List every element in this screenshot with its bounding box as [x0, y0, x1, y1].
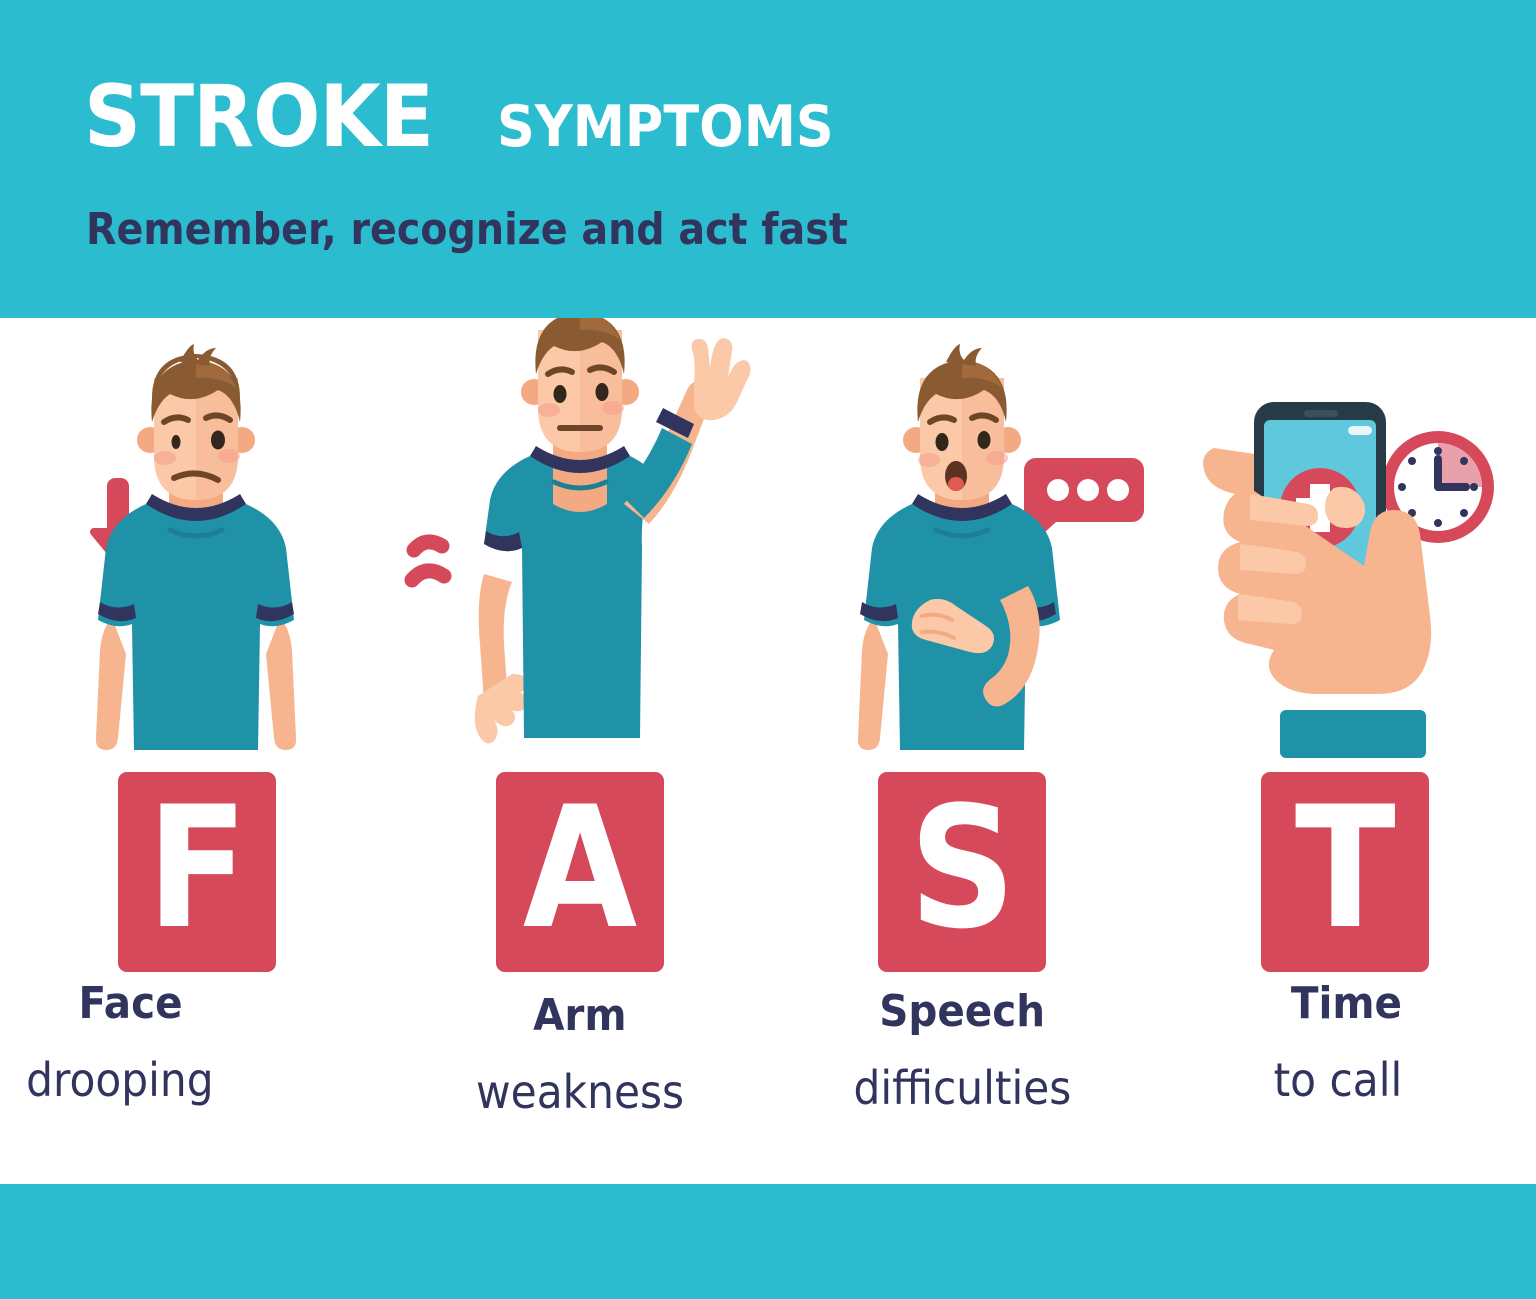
title-subword: SYMPTOMS: [497, 99, 834, 156]
illustration-speech-difficulties: [770, 318, 1154, 768]
letter-tile-t: T: [1261, 772, 1429, 972]
figure-head: [137, 344, 255, 500]
caption-word-speech-row: Speech: [770, 986, 1154, 1038]
page-title: STROKE SYMPTOMS: [84, 74, 863, 160]
letter-tile-s: S: [878, 772, 1046, 972]
caption-word-face: Face: [79, 978, 183, 1030]
letter-t: T: [1295, 784, 1396, 952]
letter-tile-a: A: [496, 772, 664, 972]
tagline: Remember, recognize and act fast: [86, 204, 848, 256]
caption-detail-speech-row: difficulties: [770, 1060, 1154, 1116]
symptom-column-speech: S Speech difficulties: [770, 318, 1154, 1184]
figure-head: [521, 318, 639, 452]
caption-word-arm: Arm: [533, 990, 626, 1042]
figure-body: [96, 490, 296, 750]
symptom-column-time: T Time to call: [1154, 318, 1536, 1184]
infographic-canvas: STROKE SYMPTOMS Remember, recognize and …: [0, 0, 1536, 1299]
footer-band: [0, 1184, 1536, 1299]
symptom-columns: F Face drooping: [0, 318, 1536, 1184]
weakness-wave-icon: [412, 542, 444, 580]
illustration-arm-weakness: [388, 318, 772, 768]
caption-detail-arm-row: weakness: [388, 1064, 772, 1120]
letter-s: S: [909, 784, 1015, 952]
illustration-face-drooping: [4, 318, 388, 768]
figure-head: [903, 344, 1021, 500]
caption-detail-speech: difficulties: [853, 1060, 1071, 1116]
letter-f: F: [146, 784, 247, 952]
caption-word-arm-row: Arm: [388, 990, 772, 1042]
figure-body: [858, 490, 1060, 750]
caption-detail-time: to call: [1274, 1052, 1403, 1108]
caption-word-time-row: Time: [1154, 978, 1536, 1030]
symptom-column-face: F Face drooping: [4, 318, 388, 1184]
caption-word-time: Time: [1291, 978, 1402, 1030]
letter-tile-f: F: [118, 772, 276, 972]
illustration-time-to-call: [1154, 318, 1536, 768]
header-band: STROKE SYMPTOMS Remember, recognize and …: [0, 0, 1536, 318]
letter-a: A: [523, 784, 637, 952]
caption-detail-face: drooping: [26, 1052, 213, 1108]
symptom-column-arm: A Arm weakness: [388, 318, 772, 1184]
caption-detail-arm: weakness: [476, 1064, 684, 1120]
caption-detail-face-row: drooping: [4, 1052, 402, 1108]
caption-word-speech: Speech: [879, 986, 1045, 1038]
title-main: STROKE: [84, 74, 433, 160]
caption-detail-time-row: to call: [1154, 1052, 1536, 1108]
